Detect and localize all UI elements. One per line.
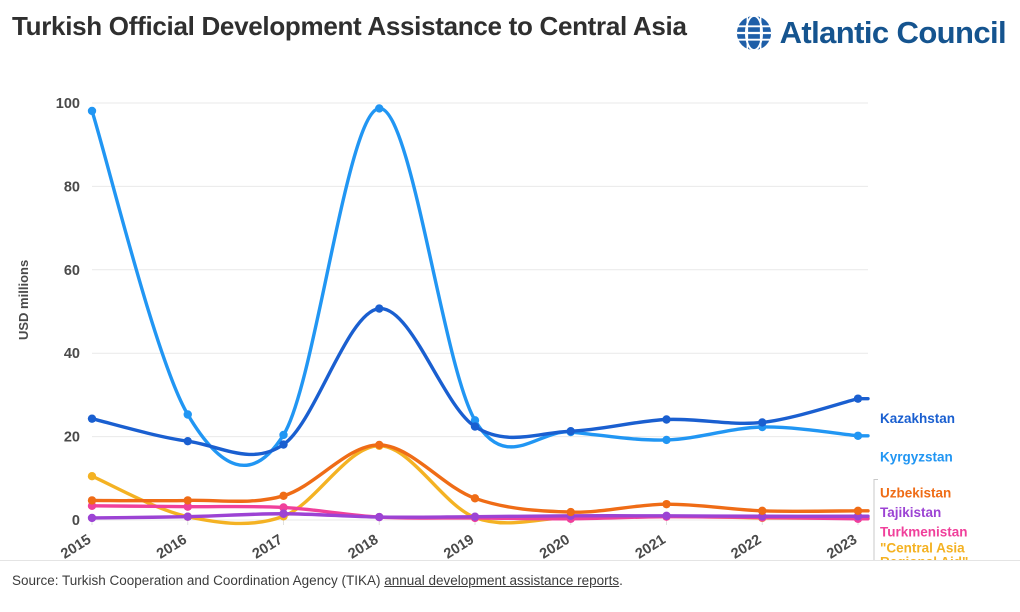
source-link[interactable]: annual development assistance reports <box>384 573 619 588</box>
data-point[interactable] <box>279 510 287 518</box>
y-axis-tick: 80 <box>64 179 80 195</box>
data-point[interactable] <box>662 512 670 520</box>
data-point[interactable] <box>662 500 670 508</box>
x-axis-tick: 2023 <box>824 532 860 560</box>
legend-label[interactable]: Uzbekistan <box>880 485 951 500</box>
data-point[interactable] <box>567 508 575 516</box>
data-point[interactable] <box>88 107 96 115</box>
x-axis-tick: 2019 <box>441 532 477 560</box>
chart-header: Turkish Official Development Assistance … <box>0 0 1020 82</box>
source-note: Source: Turkish Cooperation and Coordina… <box>12 573 623 588</box>
source-suffix: . <box>619 573 623 588</box>
x-axis-tick: 2022 <box>729 532 765 560</box>
legend-label[interactable]: Tajikistan <box>880 505 941 520</box>
line-chart: 0204060801002015201620172018201920202021… <box>0 82 1020 560</box>
series-line <box>92 446 858 524</box>
legend-label[interactable]: Kazakhstan <box>880 411 955 426</box>
y-axis-title: USD millions <box>16 260 31 340</box>
data-point[interactable] <box>375 441 383 449</box>
data-point[interactable] <box>279 492 287 500</box>
legend-label[interactable]: "Central AsiaRegional Aid" <box>880 540 968 560</box>
data-point[interactable] <box>567 427 575 435</box>
source-prefix: Source: Turkish Cooperation and Coordina… <box>12 573 384 588</box>
chart-plot-area: USD millions 020406080100201520162017201… <box>0 82 1020 560</box>
series-line <box>92 309 858 455</box>
data-point[interactable] <box>88 414 96 422</box>
data-point[interactable] <box>758 418 766 426</box>
brand-name: Atlantic Council <box>780 15 1006 51</box>
data-point[interactable] <box>279 440 287 448</box>
series-line <box>92 108 858 465</box>
data-point[interactable] <box>662 415 670 423</box>
x-axis-tick: 2017 <box>250 532 286 560</box>
data-point[interactable] <box>375 304 383 312</box>
legend-label[interactable]: Kyrgyzstan <box>880 450 953 465</box>
data-point[interactable] <box>88 472 96 480</box>
data-point[interactable] <box>662 436 670 444</box>
globe-icon <box>735 14 773 52</box>
x-axis-tick: 2020 <box>537 532 573 560</box>
data-point[interactable] <box>471 512 479 520</box>
data-point[interactable] <box>184 512 192 520</box>
data-point[interactable] <box>88 514 96 522</box>
chart-footer: Source: Turkish Cooperation and Coordina… <box>0 560 1020 612</box>
x-axis-tick: 2018 <box>346 532 382 560</box>
legend-bracket <box>874 479 878 560</box>
y-axis-tick: 20 <box>64 430 80 446</box>
data-point[interactable] <box>279 431 287 439</box>
legend-label[interactable]: Turkmenistan <box>880 525 968 540</box>
page-title: Turkish Official Development Assistance … <box>12 10 712 43</box>
data-point[interactable] <box>471 494 479 502</box>
x-axis-tick: 2015 <box>58 532 94 560</box>
x-axis-tick: 2021 <box>633 532 669 560</box>
y-axis-tick: 0 <box>72 513 80 529</box>
data-point[interactable] <box>375 104 383 112</box>
data-point[interactable] <box>184 496 192 504</box>
y-axis-tick: 60 <box>64 263 80 279</box>
data-point[interactable] <box>375 513 383 521</box>
data-point[interactable] <box>88 496 96 504</box>
data-point[interactable] <box>471 422 479 430</box>
x-axis-tick: 2016 <box>154 532 190 560</box>
data-point[interactable] <box>184 437 192 445</box>
brand-logo: Atlantic Council <box>735 14 1006 52</box>
y-axis-tick: 100 <box>56 96 80 112</box>
data-point[interactable] <box>184 410 192 418</box>
y-axis-tick: 40 <box>64 346 80 362</box>
data-point[interactable] <box>758 507 766 515</box>
